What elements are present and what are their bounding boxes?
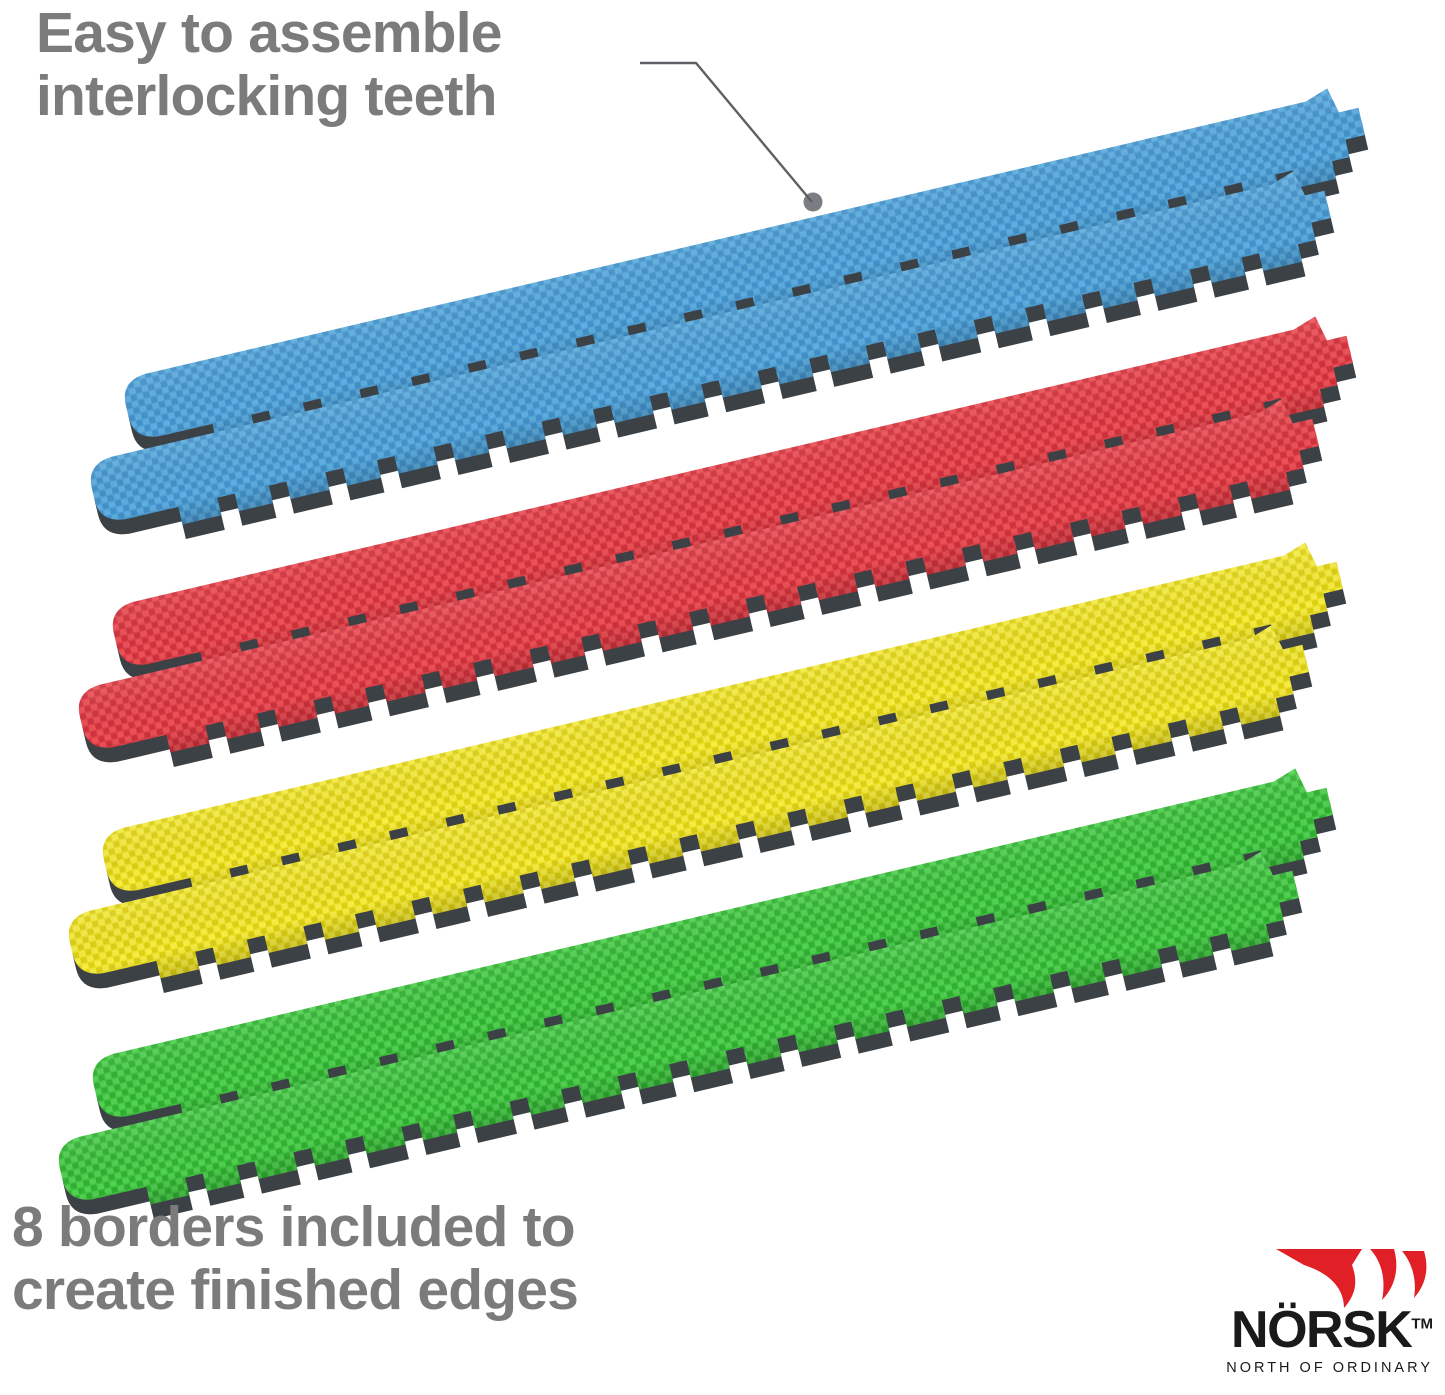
trademark-symbol: TM <box>1411 1316 1433 1333</box>
brand-logo: NÖRSKTM NORTH OF ORDINARY <box>1128 1238 1433 1388</box>
brand-wordmark: NÖRSKTM <box>1128 1304 1433 1356</box>
border-strip-illustration <box>0 0 1445 1395</box>
brand-tagline: NORTH OF ORDINARY <box>1128 1360 1433 1376</box>
product-marketing-canvas: Easy to assemble interlocking teeth <box>0 0 1445 1395</box>
footer-callout-text: 8 borders included to create finished ed… <box>12 1196 772 1321</box>
norsk-chevron-wing-icon <box>1274 1238 1432 1308</box>
brand-name: NÖRSK <box>1231 1301 1411 1359</box>
